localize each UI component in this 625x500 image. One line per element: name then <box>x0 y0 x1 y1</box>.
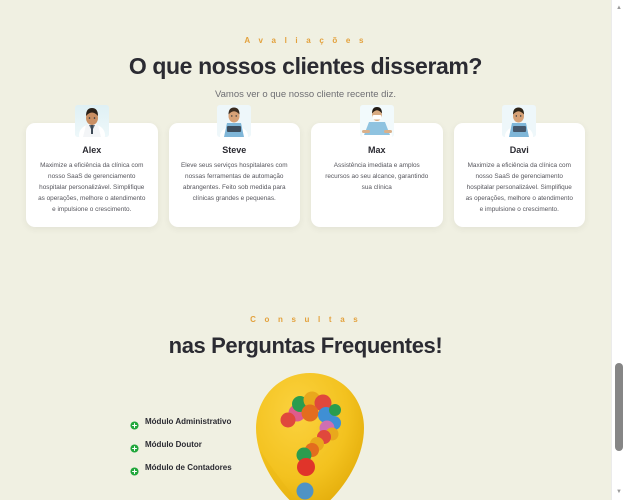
faq-accordion-list: Módulo Administrativo Módulo Doutor <box>130 389 232 486</box>
scrollbar-up-arrow[interactable]: ▲ <box>612 2 625 14</box>
doctor-avatar-steve <box>217 105 251 137</box>
testimonial-name: Steve <box>180 145 290 155</box>
testimonials-title: O que nossos clientes disseram? <box>0 53 611 80</box>
testimonial-text: Assistência imediata e amplos recursos a… <box>322 160 432 193</box>
faq-item-label: Módulo Doutor <box>145 440 202 449</box>
testimonial-card[interactable]: Alex Maximize a eficiência da clínica co… <box>26 123 158 227</box>
testimonial-card[interactable]: Max Assistência imediata e amplos recurs… <box>311 123 443 227</box>
plus-circle-icon[interactable] <box>130 417 139 426</box>
vertical-scrollbar[interactable]: ▲ ▼ <box>611 0 625 500</box>
doctor-avatar-max <box>360 105 394 137</box>
plus-circle-icon[interactable] <box>130 440 139 449</box>
faq-item-doutor[interactable]: Módulo Doutor <box>130 440 232 449</box>
testimonials-section: A v a l i a ç õ e s O que nossos cliente… <box>0 36 611 227</box>
faq-item-contadores[interactable]: Módulo de Contadores <box>130 463 232 472</box>
plus-circle-icon[interactable] <box>130 463 139 472</box>
question-mark-blob-illustration <box>254 371 366 500</box>
testimonial-cards-row: Alex Maximize a eficiência da clínica co… <box>0 123 611 227</box>
faq-item-administrativo[interactable]: Módulo Administrativo <box>130 417 232 426</box>
doctor-avatar-alex <box>75 105 109 137</box>
testimonial-text: Maximize a eficiência da clínica com nos… <box>37 160 147 215</box>
faq-item-label: Módulo Administrativo <box>145 417 231 426</box>
testimonial-text: Eleve seus serviços hospitalares com nos… <box>180 160 290 204</box>
page-content: A v a l i a ç õ e s O que nossos cliente… <box>0 0 611 500</box>
faq-title: nas Perguntas Frequentes! <box>0 333 611 359</box>
testimonial-name: Alex <box>37 145 147 155</box>
faq-eyebrow: C o n s u l t a s <box>0 315 611 324</box>
testimonial-name: Max <box>322 145 432 155</box>
testimonials-subtitle: Vamos ver o que nosso cliente recente di… <box>0 89 611 100</box>
faq-body: Módulo Administrativo Módulo Doutor <box>0 389 611 500</box>
testimonial-card[interactable]: Davi Maximize a eficiência da clínica co… <box>454 123 586 227</box>
scrollbar-down-arrow[interactable]: ▼ <box>612 486 625 498</box>
doctor-avatar-davi <box>502 105 536 137</box>
testimonial-card[interactable]: Steve Eleve seus serviços hospitalares c… <box>169 123 301 227</box>
testimonials-eyebrow: A v a l i a ç õ e s <box>0 36 611 45</box>
faq-item-label: Módulo de Contadores <box>145 463 232 472</box>
faq-section: C o n s u l t a s nas Perguntas Frequent… <box>0 315 611 500</box>
testimonial-text: Maximize a eficiência da clínica com nos… <box>465 160 575 215</box>
testimonial-name: Davi <box>465 145 575 155</box>
scrollbar-thumb[interactable] <box>615 363 623 451</box>
